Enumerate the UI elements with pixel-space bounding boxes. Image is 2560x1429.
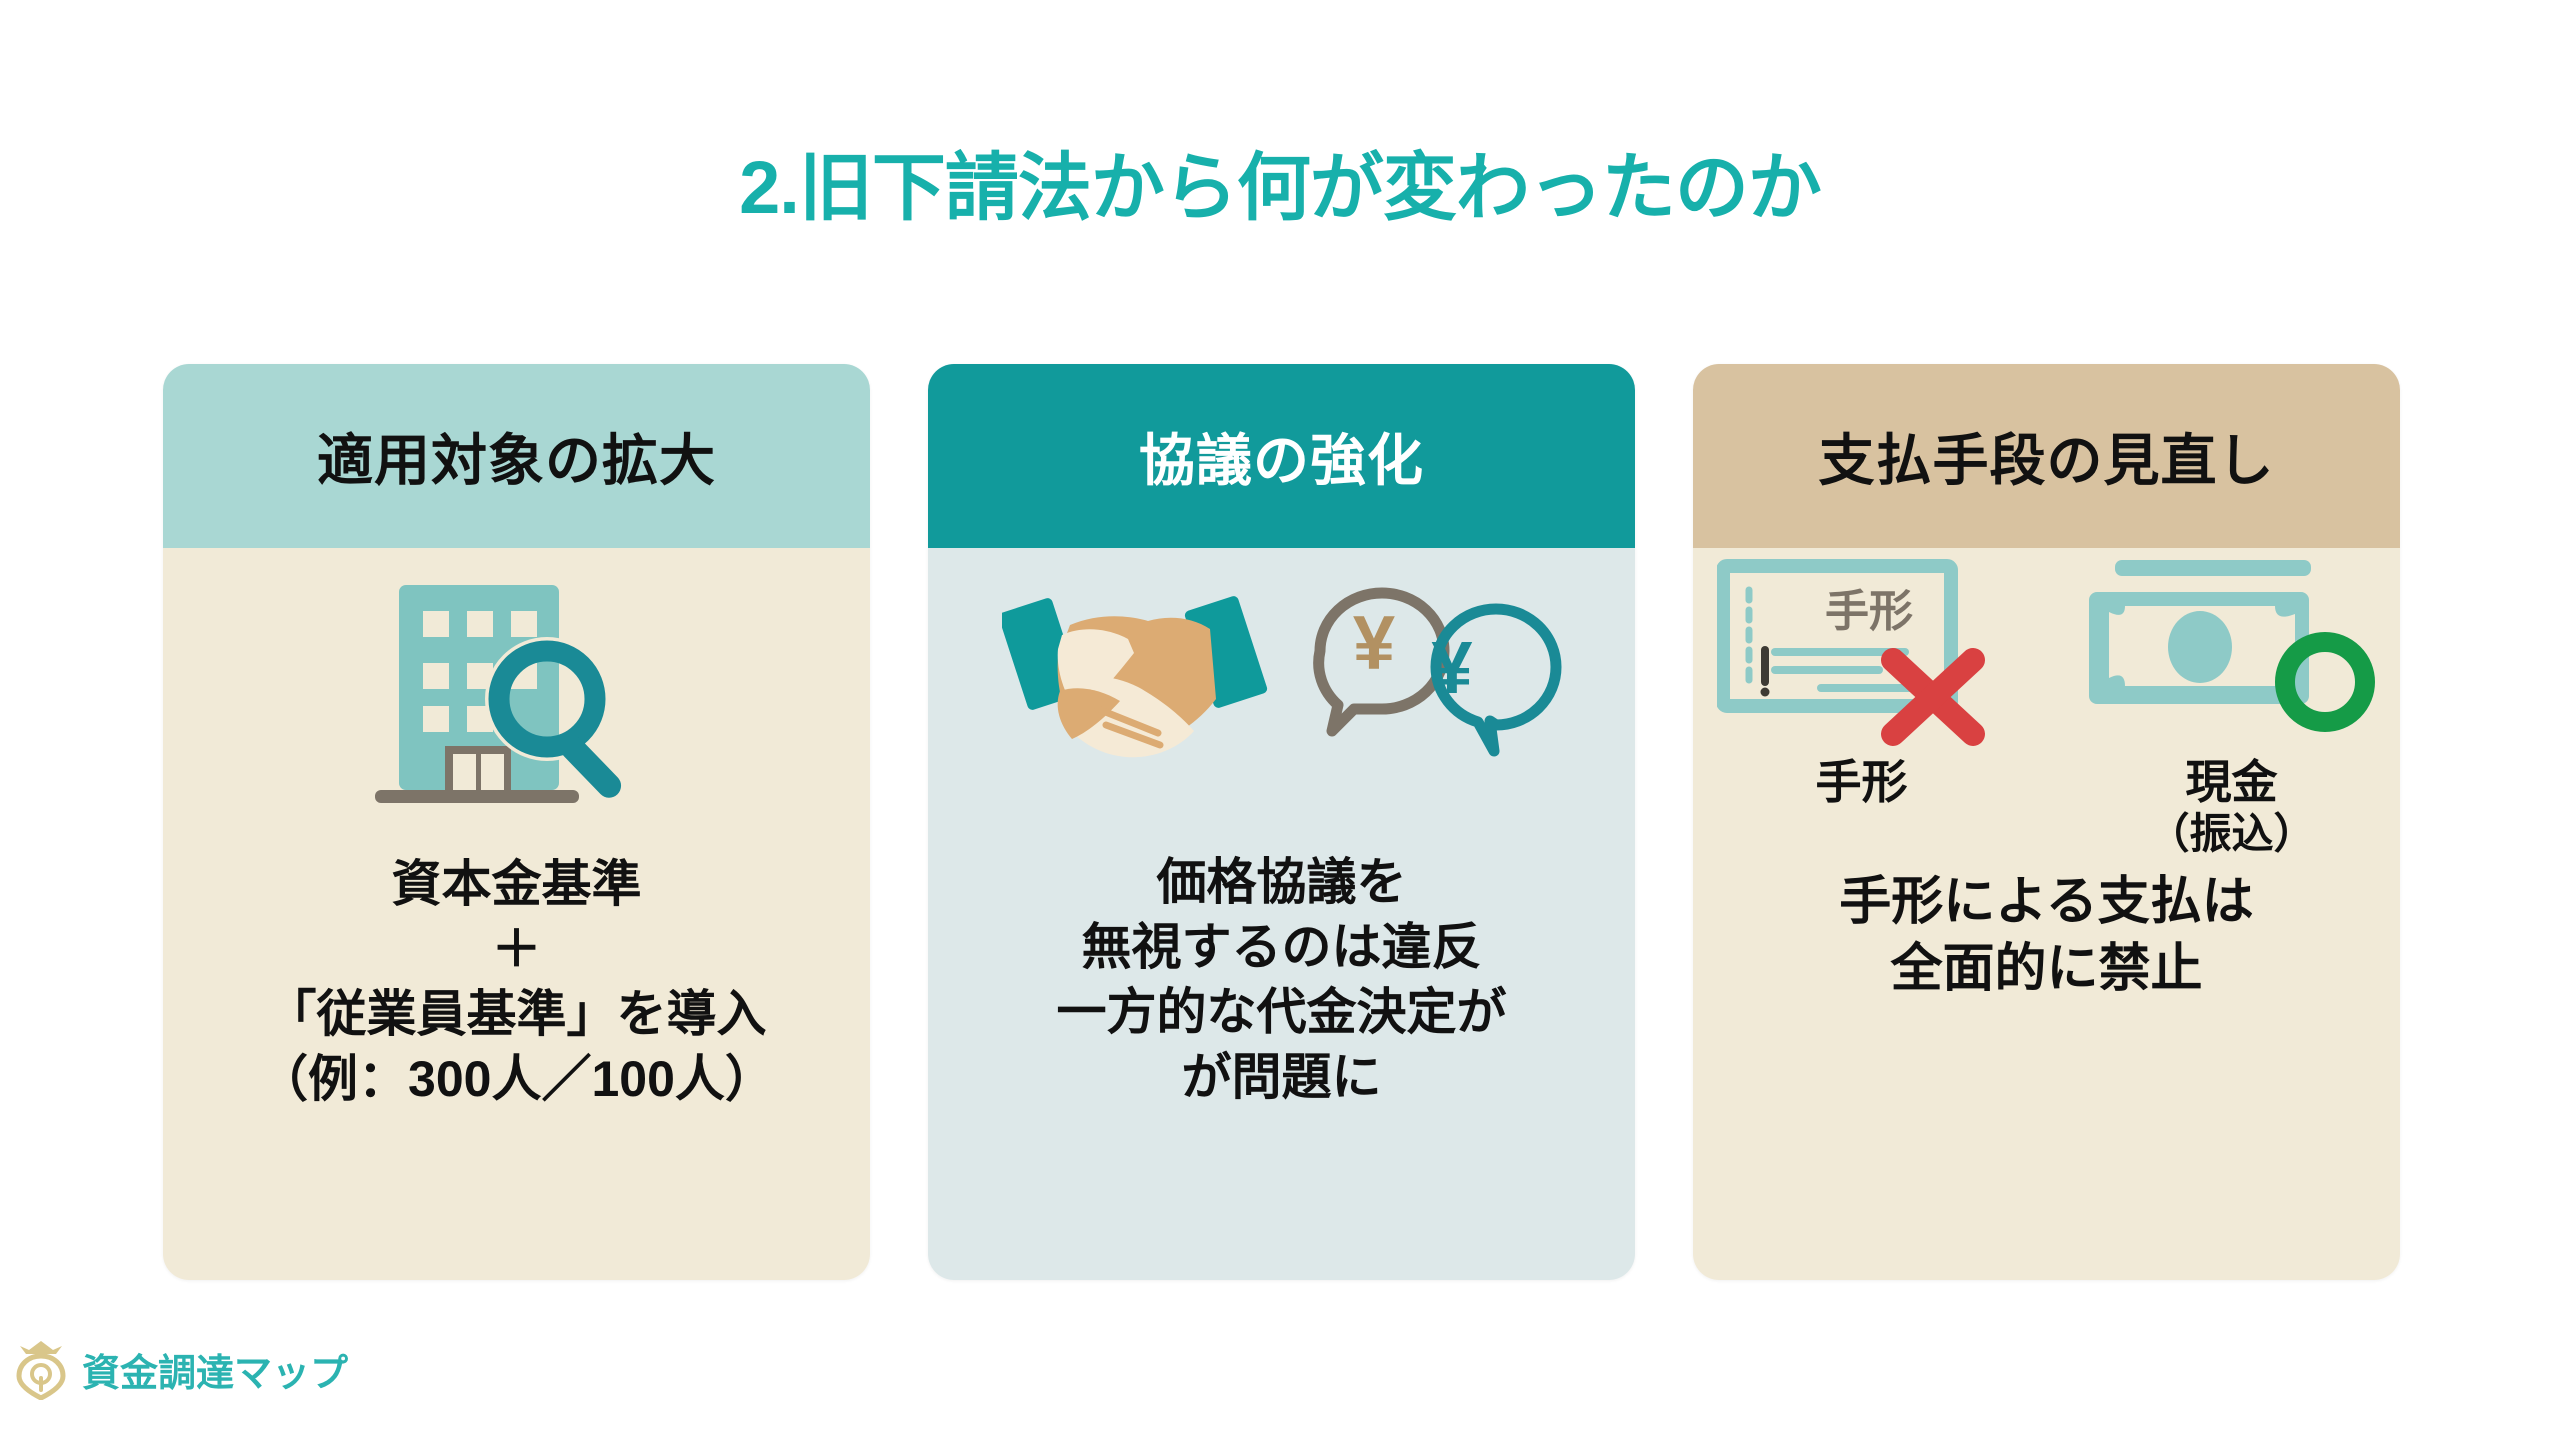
- payment-option-cash: 現金 （振込）: [2087, 554, 2377, 859]
- card-2-header: 協議の強化: [928, 364, 1635, 548]
- card-1-icon-area: [163, 548, 870, 848]
- card-1-text: 資本金基準 ＋ 「従業員基準」を導入 （例：300人／100人）: [258, 852, 775, 1112]
- card-1-line-2: ＋: [258, 917, 775, 982]
- card-applicable-scope: 適用対象の拡大: [163, 364, 870, 1280]
- card-3-line-2: 全面的に禁止: [1839, 936, 2253, 1004]
- card-payment-method-review: 支払手段の見直し 手形: [1693, 364, 2400, 1280]
- card-2-line-3: 一方的な代金決定が: [1057, 980, 1507, 1045]
- card-2-line-1: 価格協議を: [1057, 850, 1507, 915]
- card-3-line-1: 手形による支払は: [1839, 869, 2253, 937]
- payment-options-row: 手形 手形: [1693, 554, 2400, 859]
- card-3-body: 手形 手形: [1693, 548, 2400, 1280]
- svg-text:¥: ¥: [1352, 601, 1394, 686]
- cross-mark-icon: [1893, 660, 1973, 734]
- card-3-text: 手形による支払は 全面的に禁止: [1839, 869, 2253, 1004]
- card-2-line-4: が問題に: [1057, 1045, 1507, 1110]
- cash-label: 現金: [2185, 756, 2277, 808]
- card-1-line-1: 資本金基準: [258, 852, 775, 917]
- handshake-yen-bubbles-icon: ¥ ¥: [1002, 573, 1562, 803]
- note-label-text: 手形: [1825, 587, 1913, 636]
- map-pin-crown-icon: [14, 1338, 68, 1400]
- logo-text: 資金調達マップ: [82, 1342, 348, 1397]
- card-3-header: 支払手段の見直し: [1693, 364, 2400, 548]
- card-1-body: 資本金基準 ＋ 「従業員基準」を導入 （例：300人／100人）: [163, 548, 870, 1280]
- card-2-line-2: 無視するのは違反: [1057, 915, 1507, 980]
- card-2-icon-area: ¥ ¥: [928, 548, 1635, 828]
- payment-option-note-label: 手形: [1816, 755, 1908, 809]
- building-magnifier-icon: [367, 571, 667, 826]
- card-1-line-4: （例：300人／100人）: [258, 1047, 775, 1112]
- card-1-line-3: 「従業員基準」を導入: [258, 982, 775, 1047]
- cash-sublabel: （振込）: [2147, 809, 2315, 859]
- payment-option-note: 手形 手形: [1717, 554, 2007, 859]
- svg-text:¥: ¥: [1431, 626, 1472, 709]
- card-1-header: 適用対象の拡大: [163, 364, 870, 548]
- card-negotiation-strengthening: 協議の強化 ¥: [928, 364, 1635, 1280]
- page-title: 2.旧下請法から何が変わったのか: [0, 128, 2560, 235]
- card-2-text: 価格協議を 無視するのは違反 一方的な代金決定が が問題に: [1057, 850, 1507, 1110]
- banknote-icon: [2087, 554, 2377, 749]
- promissory-note-icon: 手形: [1717, 554, 2007, 749]
- note-label: 手形: [1816, 756, 1908, 808]
- payment-option-cash-label: 現金 （振込）: [2147, 755, 2315, 859]
- brand-logo[interactable]: 資金調達マップ: [14, 1338, 348, 1400]
- card-2-body: ¥ ¥ 価格協議を 無視するのは違反 一方的な代金決定が が問題に: [928, 548, 1635, 1280]
